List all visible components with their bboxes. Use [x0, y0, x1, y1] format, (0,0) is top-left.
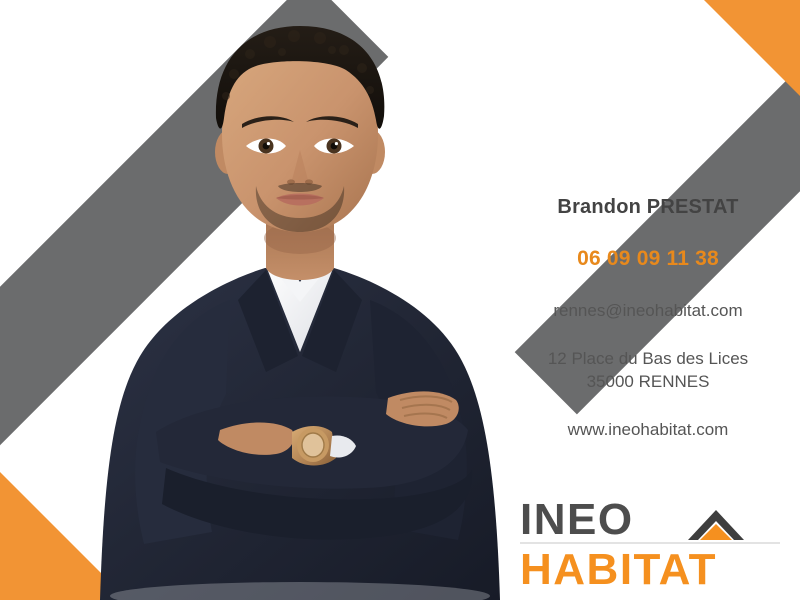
contact-email[interactable]: rennes@ineohabitat.com	[498, 301, 798, 321]
logo-divider	[520, 542, 780, 544]
contact-name: Brandon PRESTAT	[498, 196, 798, 219]
orange-wedge-top-right	[704, 0, 800, 96]
address-line-1: 12 Place du Bas des Lices	[498, 348, 798, 371]
ineo-habitat-logo[interactable]: INEO HABITAT	[520, 492, 780, 592]
logo-word-ineo: INEO	[520, 495, 634, 544]
contact-phone[interactable]: 06 09 09 11 38	[498, 247, 798, 271]
business-card: Brandon PRESTAT 06 09 09 11 38 rennes@in…	[0, 0, 800, 600]
logo-word-habitat: HABITAT	[520, 545, 717, 592]
portrait-illustration	[70, 0, 520, 600]
wristwatch	[292, 426, 336, 466]
portrait-photo	[70, 0, 520, 600]
contact-address: 12 Place du Bas des Lices 35000 RENNES	[498, 348, 798, 394]
house-roof-icon	[688, 510, 744, 540]
contact-details: Brandon PRESTAT 06 09 09 11 38 rennes@in…	[498, 196, 798, 440]
contact-website[interactable]: www.ineohabitat.com	[498, 420, 798, 440]
logo-artwork: INEO HABITAT	[520, 492, 780, 592]
address-line-2: 35000 RENNES	[498, 371, 798, 394]
